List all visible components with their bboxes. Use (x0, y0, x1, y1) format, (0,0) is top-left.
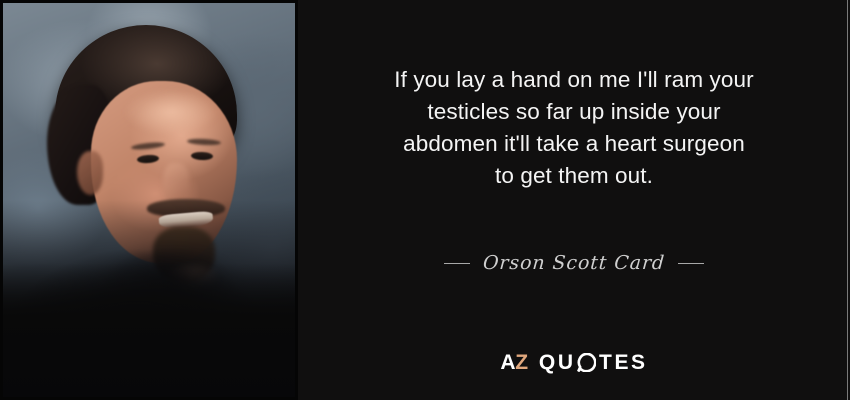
dash-left-icon (444, 263, 470, 264)
quote-text: If you lay a hand on me I'll ram your te… (298, 64, 850, 192)
quote-line-3: abdomen it'll take a heart surgeon (316, 128, 832, 160)
attribution: Orson Scott Card (298, 252, 850, 274)
quote-line-4: to get them out. (316, 160, 832, 192)
logo-az-mark: AZ (500, 352, 528, 373)
logo-quotes-suffix: TES (599, 352, 648, 373)
quote-line-1: If you lay a hand on me I'll ram your (316, 64, 832, 96)
dash-right-icon (678, 263, 704, 264)
quote-line-2: testicles so far up inside your (316, 96, 832, 128)
logo-letter-a: A (500, 351, 515, 374)
logo-letter-z: Z (515, 351, 528, 374)
quote-content: If you lay a hand on me I'll ram your te… (298, 0, 850, 400)
logo-quotes-prefix: QU (539, 352, 576, 373)
quote-card: If you lay a hand on me I'll ram your te… (0, 0, 850, 400)
speech-bubble-icon (577, 353, 596, 372)
logo-quotes-word: QUTES (539, 352, 648, 373)
right-edge-line (847, 0, 848, 400)
azquotes-logo[interactable]: AZ QUTES (298, 352, 850, 373)
author-name: Orson Scott Card (482, 252, 666, 274)
author-portrait-photo (0, 0, 298, 400)
portrait-image (3, 3, 295, 397)
black-shirt-lower (3, 263, 295, 397)
forehead-highlight (125, 89, 217, 135)
ear-shape (77, 151, 103, 195)
